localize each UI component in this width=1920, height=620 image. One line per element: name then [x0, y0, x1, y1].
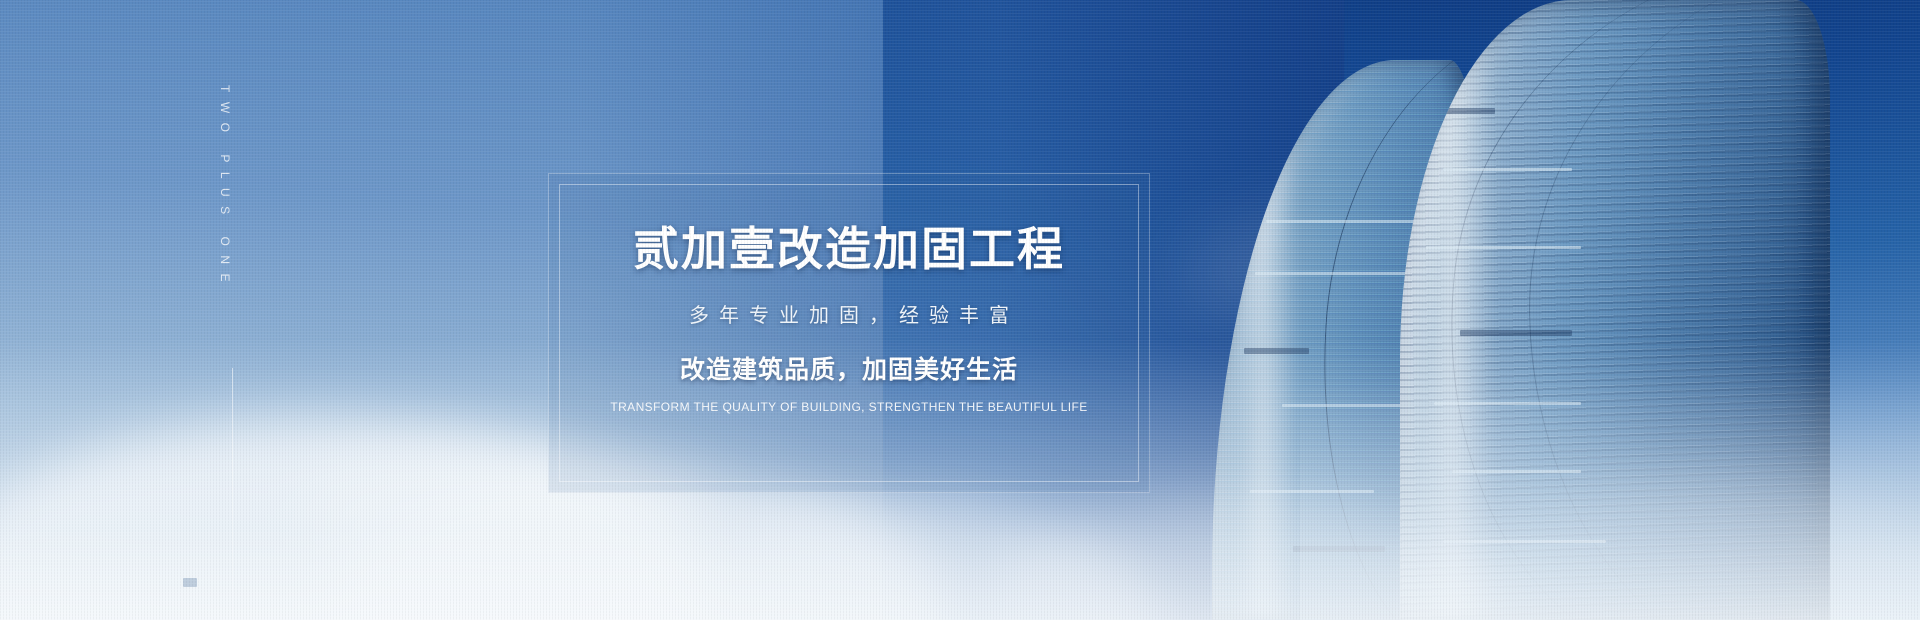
- page-title: 贰加壹改造加固工程: [549, 224, 1149, 275]
- page-subtitle: 多年专业加固，经验丰富: [549, 299, 1149, 328]
- tower-window-strip: [1443, 168, 1572, 171]
- page-slogan-english: TRANSFORM THE QUALITY OF BUILDING, STREN…: [549, 400, 1149, 414]
- headline-panel: 贰加壹改造加固工程 多年专业加固，经验丰富 改造建筑品质，加固美好生活 TRAN…: [548, 173, 1150, 493]
- brand-vertical-rule: [232, 368, 233, 620]
- headline-panel-content: 贰加壹改造加固工程 多年专业加固，经验丰富 改造建筑品质，加固美好生活 TRAN…: [549, 224, 1149, 414]
- brand-vertical-label: TWO PLUS ONE: [218, 85, 232, 291]
- page-slogan: 改造建筑品质，加固美好生活: [549, 350, 1149, 386]
- tower-window-dark: [1460, 330, 1572, 336]
- brand-mark-icon: [183, 578, 197, 587]
- banner-root: TWO PLUS ONE 贰加壹改造加固工程 多年专业加固，经验丰富 改造建筑品…: [0, 0, 1920, 620]
- tower-window-dark: [1426, 108, 1495, 114]
- tower-window-strip: [1426, 246, 1581, 249]
